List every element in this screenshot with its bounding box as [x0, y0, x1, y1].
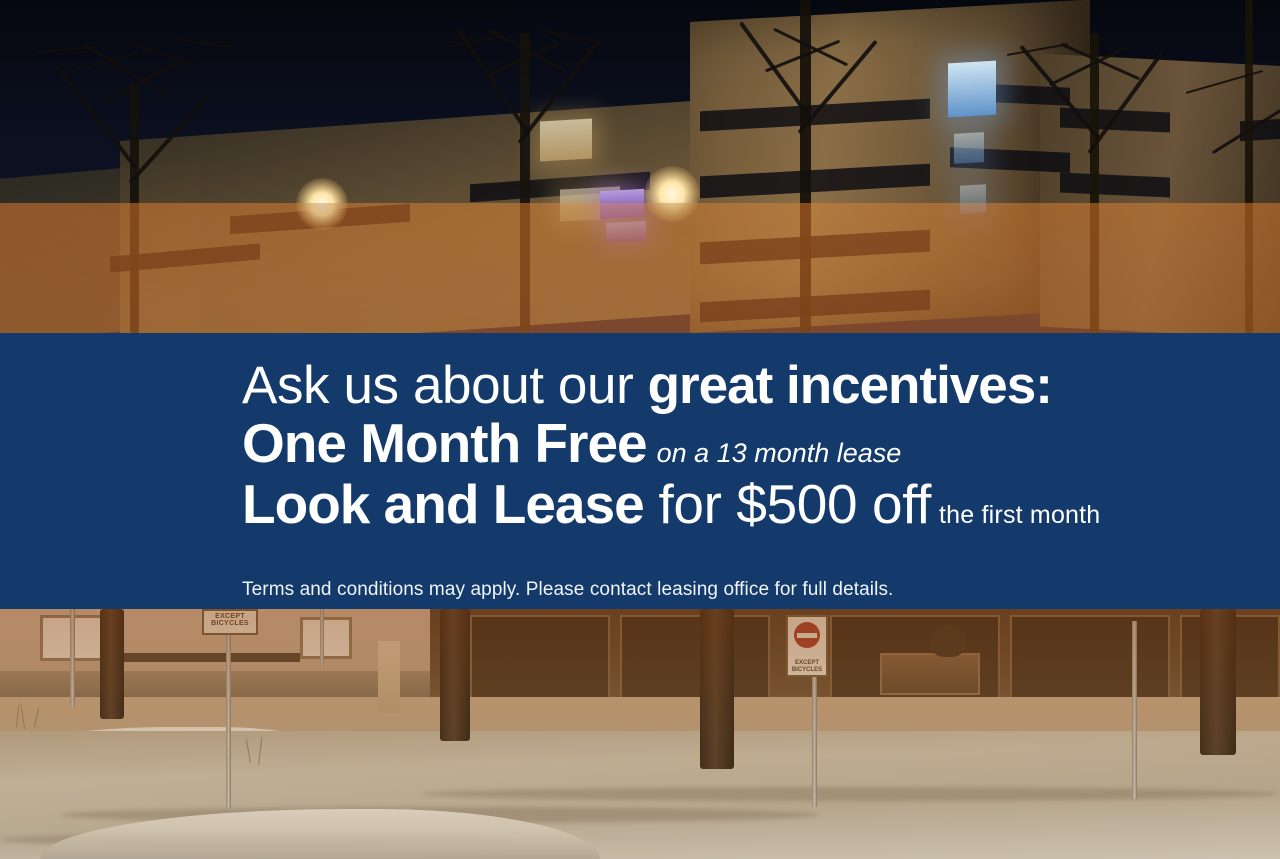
street-lamp-glow — [644, 166, 700, 222]
wooden-stake — [378, 641, 400, 713]
street-photo-bottom: EXCEPT BICYCLES EXCEPT BICYCLES — [0, 609, 1280, 859]
no-entry-sign-text: EXCEPT BICYCLES — [788, 660, 826, 673]
offer-one-month-free: One Month Free — [242, 412, 647, 474]
porch-railing — [120, 653, 300, 662]
headline-emphasis-text: great incentives: — [648, 356, 1052, 415]
street-tree-trunk — [700, 609, 734, 769]
headline-line-1: Ask us about our great incentives: — [242, 359, 1280, 412]
bare-tree-center — [520, 0, 521, 333]
sign-pole — [1132, 621, 1137, 799]
bare-tree-mid-right — [800, 0, 801, 333]
storefront-display-object — [930, 625, 966, 657]
storefront-window — [470, 615, 610, 701]
except-bicycles-sign: EXCEPT BICYCLES — [202, 609, 258, 635]
storefront-display-bench — [880, 653, 980, 695]
sign-line-2: BICYCLES — [204, 620, 256, 627]
street-tree-trunk — [100, 609, 124, 719]
lit-window-purple — [600, 189, 644, 219]
incentives-banner: Ask us about our great incentives: One M… — [0, 333, 1280, 609]
headline-line-2: One Month Freeon a 13 month lease — [242, 416, 1280, 471]
no-entry-bar — [797, 633, 817, 638]
sign-line-2: BICYCLES — [788, 667, 826, 673]
promo-banner-stage: Ask us about our great incentives: One M… — [0, 0, 1280, 859]
sign-pole — [320, 609, 324, 665]
sign-pole — [226, 627, 231, 809]
lit-window-blue — [960, 184, 986, 213]
bare-tree-right — [1090, 0, 1091, 333]
headline-lead-text: Ask us about our — [242, 356, 648, 415]
lit-window-blue — [954, 132, 984, 164]
building-photo-top — [0, 0, 1280, 333]
street-lamp-glow — [296, 178, 348, 230]
offer-look-and-lease: Look and Lease — [242, 473, 644, 535]
terms-and-conditions-text: Terms and conditions may apply. Please c… — [242, 579, 1280, 601]
street-tree-trunk — [440, 609, 470, 741]
storefront-window — [1010, 615, 1170, 701]
sign-pole — [70, 609, 75, 707]
headline-line-3: Look and Lease for $500 offthe first mon… — [242, 477, 1280, 532]
offer-one-month-free-note: on a 13 month lease — [647, 438, 902, 468]
no-entry-sign: EXCEPT BICYCLES — [786, 615, 828, 677]
lit-window-warm — [540, 119, 592, 162]
lit-window-purple — [606, 221, 646, 243]
sign-pole — [812, 675, 817, 807]
bare-tree-far-right — [1245, 0, 1246, 333]
house-window — [300, 617, 352, 659]
bare-tree-left — [130, 0, 131, 333]
lit-window-blue — [948, 61, 996, 118]
offer-look-and-lease-note: the first month — [931, 501, 1100, 529]
offer-look-and-lease-amount: for $500 off — [644, 473, 931, 535]
tire-track — [420, 787, 1280, 801]
storefront-window — [620, 615, 770, 701]
street-tree-trunk — [1200, 609, 1236, 755]
porch-base — [0, 671, 430, 697]
sign-line-1: EXCEPT — [204, 613, 256, 620]
